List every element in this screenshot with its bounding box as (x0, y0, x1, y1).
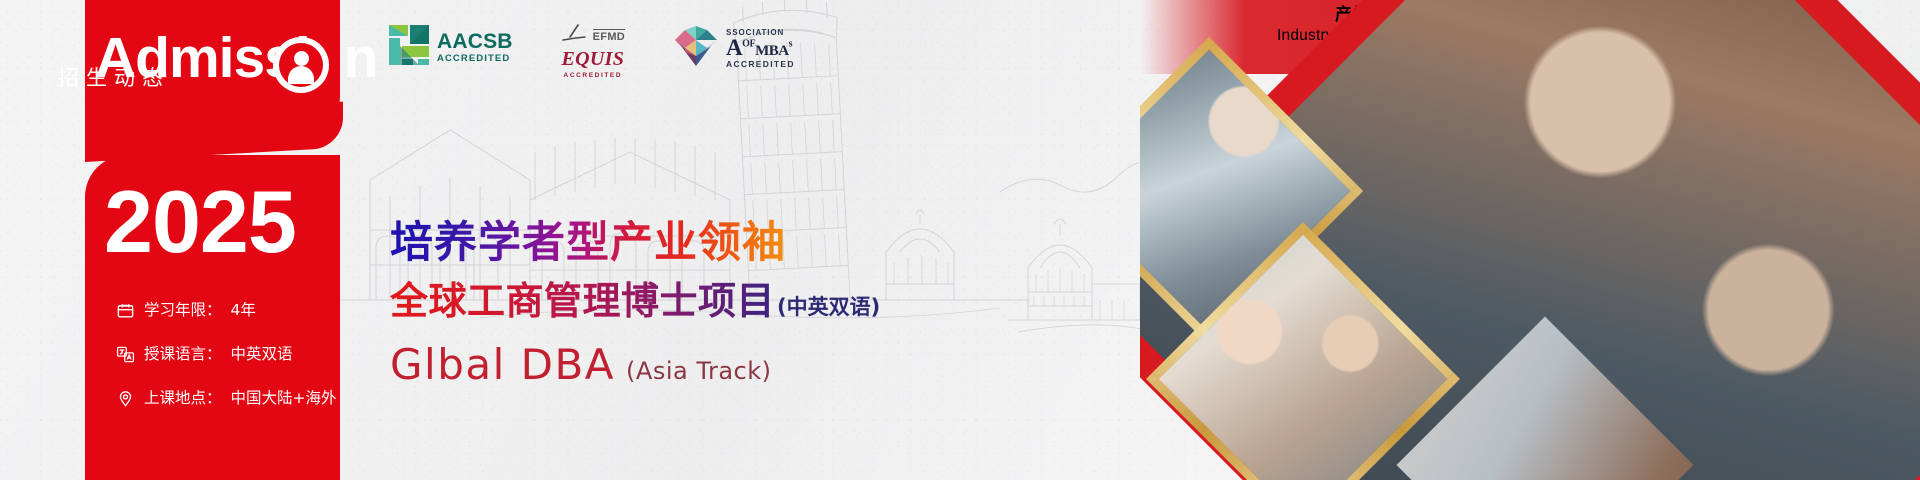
person-icon-head (294, 51, 309, 66)
amba-name-mba: MBA (755, 43, 789, 59)
accreditation-logos: AACSB ACCREDITED EFMD EQUIS ACCREDITED (388, 24, 795, 79)
headline-block: 培养学者型产业领袖 全球工商管理博士项目 (中英双语) Glbal DBA (A… (390, 218, 880, 388)
photo-collage: 产学相结合 Industry-Academia-Research 卓越学术 Ac… (1140, 0, 1920, 480)
headline-program-cn: 全球工商管理博士项目 (中英双语) (390, 275, 880, 333)
admission-word-tail: n (344, 26, 378, 90)
equis-top-row: EFMD (561, 24, 625, 47)
aacsb-pinwheel-icon (388, 24, 430, 71)
fact-duration-value: 4年 (231, 300, 256, 320)
fact-language: 授课语言：中英双语 (116, 344, 346, 364)
headline-program-cn-paren: (中英双语) (777, 281, 880, 333)
amba-text: SSOCIATION AOFMBAs ACCREDITED (726, 29, 795, 69)
aacsb-logo: AACSB ACCREDITED (388, 24, 513, 71)
amba-gem-icon (673, 24, 719, 73)
fact-duration: 学习年限：4年 (116, 300, 346, 320)
aacsb-text: AACSB ACCREDITED (437, 31, 513, 64)
aacsb-name: AACSB (437, 31, 513, 52)
equis-logo: EFMD EQUIS ACCREDITED (561, 24, 625, 79)
amba-logo: SSOCIATION AOFMBAs ACCREDITED (673, 24, 795, 73)
amba-name: AOFMBAs (726, 36, 795, 59)
fact-duration-label: 学习年限： (144, 300, 222, 320)
calendar-icon (116, 301, 135, 320)
program-facts-list: 学习年限：4年 授课语言：中英双语 上课地点：中国大陆+海外 (116, 300, 346, 432)
efmd-swoosh-icon (561, 24, 589, 47)
fact-language-label: 授课语言： (144, 344, 222, 364)
equis-name: EQUIS (562, 48, 625, 71)
headline-program-en-text: Glbal DBA (390, 342, 615, 388)
fact-location-label: 上课地点： (144, 388, 222, 408)
admission-banner: Admission 招生动态 2025 学习年限：4年 (0, 0, 1920, 480)
location-pin-icon (116, 389, 135, 408)
amba-name-a: A (726, 35, 742, 60)
efmd-label: EFMD (593, 29, 625, 43)
language-icon (116, 345, 135, 364)
fact-location-value: 中国大陆+海外 (231, 388, 337, 408)
admission-chinese-label: 招生动态 (58, 62, 170, 92)
fact-language-value: 中英双语 (231, 344, 293, 364)
headline-program-cn-text: 全球工商管理博士项目 (390, 275, 775, 327)
equis-sub: ACCREDITED (564, 72, 623, 79)
headline-program-en: Glbal DBA (Asia Track) (390, 342, 880, 388)
person-in-circle-icon (273, 37, 329, 93)
headline-program-en-track: (Asia Track) (626, 357, 771, 385)
aacsb-sub: ACCREDITED (437, 54, 513, 64)
amba-name-of: OF (742, 38, 755, 49)
headline-tagline: 培养学者型产业领袖 (390, 218, 880, 268)
fact-location: 上课地点：中国大陆+海外 (116, 388, 346, 408)
amba-sub: ACCREDITED (726, 60, 795, 69)
amba-name-s: s (789, 38, 792, 49)
year-label: 2025 (104, 176, 296, 268)
